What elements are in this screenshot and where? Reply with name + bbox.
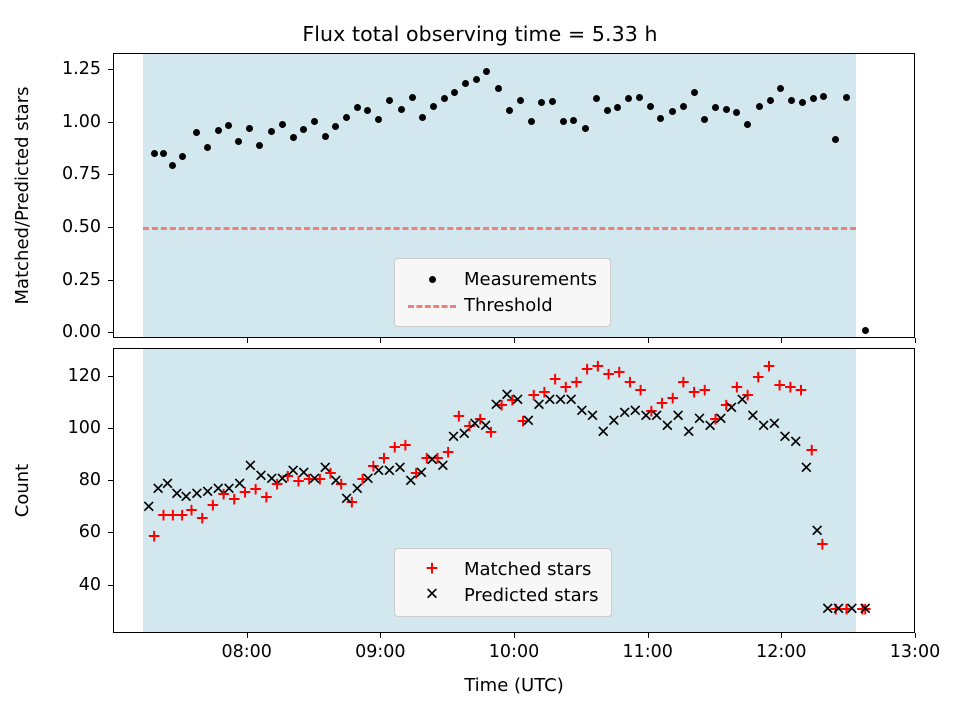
x-axis-tick [247,633,248,638]
data-point-matched-star: + [634,382,648,399]
data-point-measurement [462,80,469,87]
y-axis-tick [108,69,113,70]
figure-canvas: Flux total observing time = 5.33 h Match… [0,0,960,720]
data-point-measurement [375,116,382,123]
data-point-measurement [560,118,567,125]
data-point-predicted-star: ✕ [799,461,813,478]
data-point-measurement [441,95,448,102]
data-point-predicted-star: ✕ [810,523,824,540]
legend-item-predicted-stars[interactable]: ✕ Predicted stars [406,582,598,608]
data-point-measurement [843,94,850,101]
y-axis-tick-label: 0.50 [5,217,101,237]
x-axis-tick-label: 09:00 [335,642,425,662]
data-point-matched-star: + [147,529,161,546]
data-point-measurement [657,115,664,122]
legend-item-measurements[interactable]: Measurements [406,266,597,292]
data-point-measurement [354,104,361,111]
data-point-measurement [279,121,286,128]
data-point-measurement [593,95,600,102]
data-point-measurement [290,134,297,141]
data-point-measurement [799,99,806,106]
y-axis-tick [108,376,113,377]
data-point-predicted-star: ✕ [436,458,450,475]
data-point-measurement [473,76,480,83]
data-point-measurement [549,98,556,105]
data-point-measurement [604,107,611,114]
x-axis-tick-label: 08:00 [202,642,292,662]
x-axis-tick [648,338,649,343]
data-point-measurement [235,138,242,145]
data-point-measurement [419,114,426,121]
data-point-predicted-star: ✕ [845,602,859,619]
legend-item-matched-stars[interactable]: + Matched stars [406,556,598,582]
data-point-measurement [386,97,393,104]
data-point-measurement [820,93,827,100]
x-axis-tick [380,338,381,343]
data-point-measurement [647,103,654,110]
x-axis-tick [915,633,916,638]
y-axis-tick-label: 40 [5,575,101,595]
data-point-predicted-star: ✕ [511,393,525,410]
x-axis-tick [915,338,916,343]
data-point-measurement [430,103,437,110]
bottom-panel-legend: + Matched stars ✕ Predicted stars [394,548,612,617]
data-point-predicted-star: ✕ [521,414,535,431]
data-point-matched-star: + [762,359,776,376]
data-point-measurement [701,116,708,123]
top-panel-legend: Measurements Threshold [394,258,611,327]
x-axis-tick-label: 13:00 [870,642,960,662]
data-point-predicted-star: ✕ [142,500,156,517]
data-point-matched-star: + [805,442,819,459]
data-point-matched-star: + [398,437,412,454]
x-axis-tick [781,633,782,638]
y-axis-tick [108,480,113,481]
data-point-measurement [788,97,795,104]
y-axis-tick [108,280,113,281]
x-axis-tick-label: 12:00 [736,642,826,662]
data-point-predicted-star: ✕ [233,476,247,493]
legend-label-measurements: Measurements [458,269,597,290]
data-point-measurement [246,125,253,132]
data-point-matched-star: + [794,382,808,399]
y-axis-tick [108,585,113,586]
x-axis-tick-label: 10:00 [469,642,559,662]
y-axis-tick [108,174,113,175]
data-point-measurement [528,118,535,125]
data-point-measurement [517,97,524,104]
y-axis-tick-label: 60 [5,522,101,542]
data-point-matched-star: + [666,390,680,407]
data-point-measurement [179,153,186,160]
dot-marker-icon [406,268,458,290]
cross-marker-icon: ✕ [406,584,458,606]
data-point-measurement [322,133,329,140]
plus-marker-icon: + [406,558,458,580]
y-axis-tick-label: 100 [5,418,101,438]
y-axis-tick-label: 1.00 [5,112,101,132]
data-point-matched-star: + [698,382,712,399]
data-point-predicted-star: ✕ [831,602,845,619]
data-point-measurement [723,106,730,113]
data-point-measurement [832,136,839,143]
data-point-measurement [680,103,687,110]
data-point-predicted-star: ✕ [789,435,803,452]
legend-label-threshold: Threshold [458,295,553,316]
y-axis-tick-label: 80 [5,470,101,490]
dashed-line-icon [406,294,458,316]
data-point-measurement [409,94,416,101]
page-title: Flux total observing time = 5.33 h [0,22,960,46]
threshold-line [143,227,855,230]
y-axis-tick [108,332,113,333]
x-axis-label: Time (UTC) [113,675,915,696]
x-axis-tick [648,633,649,638]
data-point-measurement [862,327,869,334]
y-axis-tick-label: 0.00 [5,322,101,342]
x-axis-tick [514,633,515,638]
x-axis-tick [247,338,248,343]
data-point-measurement [625,95,632,102]
legend-label-matched-stars: Matched stars [458,559,591,580]
legend-item-threshold[interactable]: Threshold [406,292,597,318]
data-point-predicted-star: ✕ [478,419,492,436]
top-panel-y-axis-label: Matched/Predicted stars [12,53,33,338]
x-axis-tick [514,338,515,343]
data-point-measurement [767,97,774,104]
y-axis-tick-label: 0.75 [5,164,101,184]
x-axis-tick [781,338,782,343]
legend-label-predicted-stars: Predicted stars [458,585,598,606]
data-point-measurement [810,95,817,102]
data-point-measurement [343,114,350,121]
data-point-predicted-star: ✕ [858,602,872,619]
x-axis-tick [380,633,381,638]
y-axis-tick-label: 1.25 [5,59,101,79]
data-point-measurement [636,94,643,101]
y-axis-tick-label: 120 [5,366,101,386]
y-axis-tick [108,428,113,429]
y-axis-tick [108,227,113,228]
data-point-measurement [311,118,318,125]
y-axis-tick [108,122,113,123]
data-point-predicted-star: ✕ [329,474,343,491]
y-axis-tick-label: 0.25 [5,270,101,290]
y-axis-tick [108,532,113,533]
x-axis-tick-label: 11:00 [603,642,693,662]
